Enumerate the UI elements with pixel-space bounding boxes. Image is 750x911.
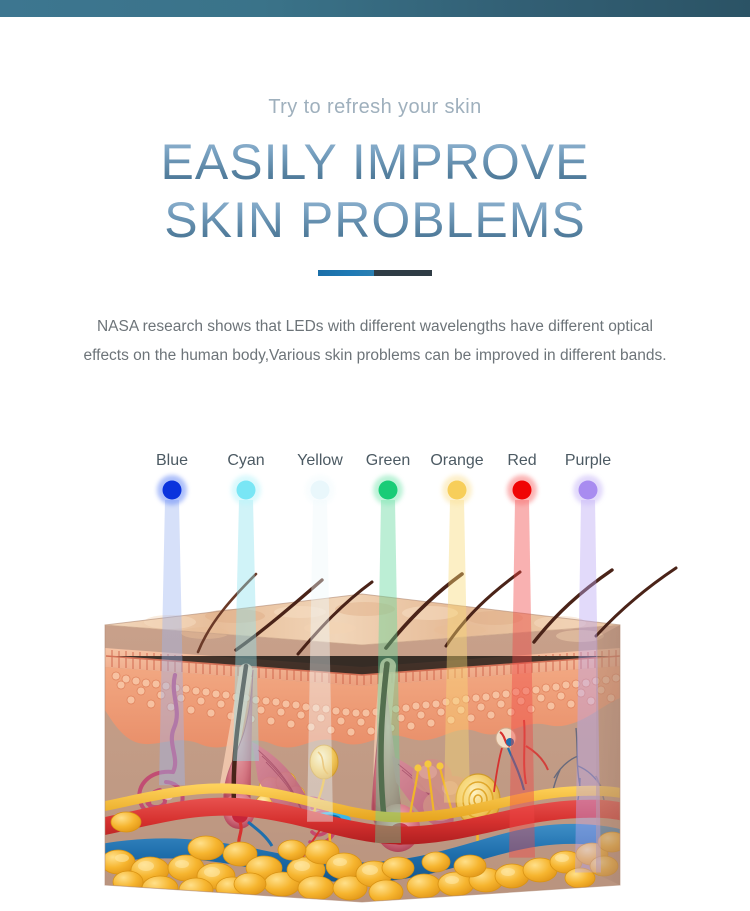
divider-segment-blue: [318, 270, 374, 276]
led-label-cyan: Cyan: [227, 452, 264, 470]
led-beam-blue: [159, 500, 185, 785]
led-beam-purple: [575, 500, 601, 872]
led-bulb-cyan[interactable]: [237, 481, 256, 500]
section-divider: [318, 270, 432, 276]
page-title: EASILY IMPROVE SKIN PROBLEMS: [0, 133, 750, 249]
led-bulb-green[interactable]: [379, 481, 398, 500]
skin-diagram: [0, 470, 750, 911]
led-beam-cyan: [233, 500, 259, 761]
eyebrow-text: Try to refresh your skin: [0, 95, 750, 119]
led-label-red: Red: [507, 452, 536, 470]
headline-line-1: EASILY IMPROVE: [0, 133, 750, 191]
led-beam-yellow: [307, 500, 333, 822]
led-label-blue: Blue: [156, 452, 188, 470]
led-label-purple: Purple: [565, 452, 611, 470]
led-label-yellow: Yellow: [297, 452, 343, 470]
led-label-orange: Orange: [430, 452, 483, 470]
headline-line-2: SKIN PROBLEMS: [0, 191, 750, 249]
led-bulb-yellow[interactable]: [311, 481, 330, 500]
led-bulb-purple[interactable]: [579, 481, 598, 500]
led-bulb-blue[interactable]: [163, 481, 182, 500]
led-beam-red: [509, 500, 535, 858]
led-label-green: Green: [366, 452, 410, 470]
lead-paragraph: NASA research shows that LEDs with diffe…: [75, 312, 675, 370]
led-beam-green: [375, 500, 401, 843]
led-beam-orange: [444, 500, 470, 803]
top-accent-bar: [0, 0, 750, 17]
header-block: Try to refresh your skin EASILY IMPROVE …: [0, 95, 750, 249]
divider-segment-dark: [374, 270, 432, 276]
led-bulb-orange[interactable]: [448, 481, 467, 500]
led-bulbs: [157, 475, 603, 505]
led-bulb-red[interactable]: [513, 481, 532, 500]
